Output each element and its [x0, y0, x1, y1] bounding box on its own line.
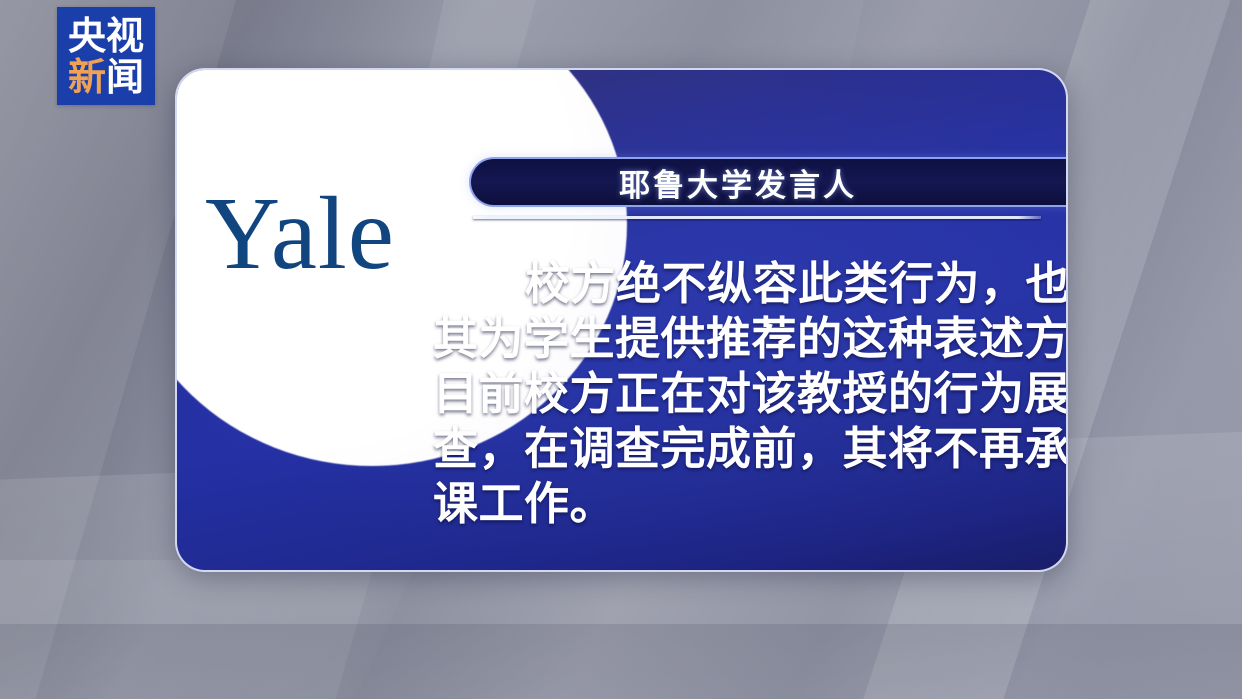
logo-char-shi: 视	[106, 17, 144, 55]
quote-line-3: 目前校方正在对该教授的行为展开调	[433, 366, 1045, 421]
logo-char-xin: 新	[68, 58, 106, 96]
statement-quote: 校方绝不纵容此类行为，也不认可 其为学生提供推荐的这种表述方式， 目前校方正在对…	[433, 256, 1045, 531]
backdrop-facet-7	[0, 624, 1242, 699]
yale-wordmark: Yale	[205, 182, 395, 286]
backdrop-facet-6	[0, 560, 418, 699]
cctv-news-logo: 央 视 新 闻	[57, 7, 155, 105]
quote-line-1: 校方绝不纵容此类行为，也不认可	[433, 256, 1045, 311]
broadcast-graphic-stage: 央 视 新 闻 Yale 耶鲁大学发言人 校方绝不纵容此类行为，也不认可 其为学…	[0, 0, 1242, 699]
logo-char-yang: 央	[68, 17, 106, 55]
quote-line-2: 其为学生提供推荐的这种表述方式，	[433, 311, 1045, 366]
title-divider	[473, 216, 1041, 219]
logo-row-top: 央 视	[68, 17, 144, 55]
speaker-title-text: 耶鲁大学发言人	[619, 160, 857, 205]
quote-line-5: 课工作。	[433, 476, 1045, 531]
quote-line-4: 查，在调查完成前，其将不再承担授	[433, 421, 1045, 476]
logo-row-bottom: 新 闻	[68, 58, 144, 96]
logo-char-wen: 闻	[106, 58, 144, 96]
statement-card: Yale 耶鲁大学发言人 校方绝不纵容此类行为，也不认可 其为学生提供推荐的这种…	[175, 68, 1068, 572]
speaker-title-banner: 耶鲁大学发言人	[469, 157, 1068, 207]
